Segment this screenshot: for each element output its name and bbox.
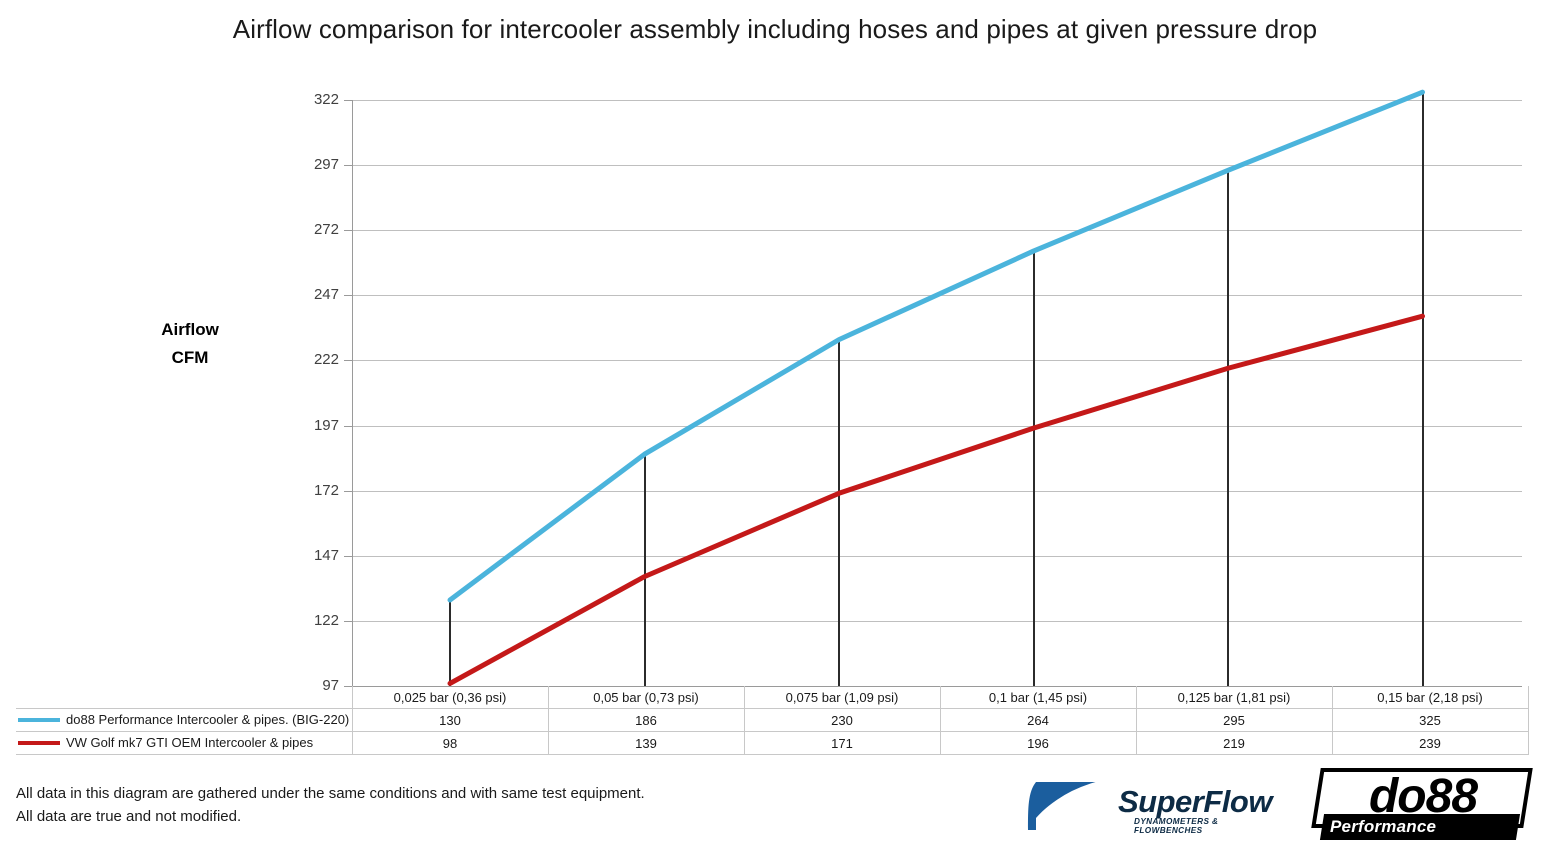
do88-logo: do88 Performance xyxy=(1316,768,1528,844)
y-axis-tick-label: 172 xyxy=(279,482,339,499)
legend-cell-1: VW Golf mk7 GTI OEM Intercooler & pipes xyxy=(16,732,352,755)
data-cell: 239 xyxy=(1332,732,1528,755)
y-axis-tick xyxy=(344,556,352,557)
data-cell: 196 xyxy=(940,732,1136,755)
table-row: do88 Performance Intercooler & pipes. (B… xyxy=(16,709,1528,732)
data-cell: 98 xyxy=(352,732,548,755)
column-header-0: 0,025 bar (0,36 psi) xyxy=(352,686,548,709)
column-header-1: 0,05 bar (0,73 psi) xyxy=(548,686,744,709)
y-axis-tick xyxy=(344,100,352,101)
table-row: VW Golf mk7 GTI OEM Intercooler & pipes9… xyxy=(16,732,1528,755)
data-cell: 219 xyxy=(1136,732,1332,755)
data-cell: 264 xyxy=(940,709,1136,732)
series-line-0 xyxy=(450,92,1423,600)
y-axis-tick-label: 122 xyxy=(279,612,339,629)
data-table: 0,025 bar (0,36 psi)0,05 bar (0,73 psi)0… xyxy=(16,686,1529,755)
data-cell: 295 xyxy=(1136,709,1332,732)
data-cell: 186 xyxy=(548,709,744,732)
y-axis-tick-label: 197 xyxy=(279,417,339,434)
data-cell: 139 xyxy=(548,732,744,755)
superflow-logo: SuperFlow DYNAMOMETERS & FLOWBENCHES xyxy=(1022,778,1272,836)
y-axis-tick-label: 322 xyxy=(279,91,339,108)
legend-label: do88 Performance Intercooler & pipes. (B… xyxy=(66,713,349,727)
table-header-row: 0,025 bar (0,36 psi)0,05 bar (0,73 psi)0… xyxy=(16,686,1528,709)
superflow-swoosh-icon xyxy=(1022,778,1114,834)
data-cell: 325 xyxy=(1332,709,1528,732)
y-axis-tick xyxy=(344,426,352,427)
series-lines xyxy=(352,100,1522,686)
column-header-5: 0,15 bar (2,18 psi) xyxy=(1332,686,1528,709)
y-axis-tick-label: 222 xyxy=(279,351,339,368)
y-axis-tick-label: 272 xyxy=(279,221,339,238)
y-axis-tick xyxy=(344,165,352,166)
do88-tagline: Performance xyxy=(1330,817,1436,837)
superflow-wordmark: SuperFlow xyxy=(1118,784,1272,820)
superflow-tagline: DYNAMOMETERS & FLOWBENCHES xyxy=(1134,817,1272,835)
y-axis-tick xyxy=(344,295,352,296)
legend-label: VW Golf mk7 GTI OEM Intercooler & pipes xyxy=(66,736,313,750)
series-line-1 xyxy=(450,316,1423,683)
column-header-3: 0,1 bar (1,45 psi) xyxy=(940,686,1136,709)
column-header-2: 0,075 bar (1,09 psi) xyxy=(744,686,940,709)
legend-swatch-icon xyxy=(18,718,60,722)
legend-cell-0: do88 Performance Intercooler & pipes. (B… xyxy=(16,709,352,732)
y-axis-tick xyxy=(344,491,352,492)
data-cell: 130 xyxy=(352,709,548,732)
y-axis-tick-label: 297 xyxy=(279,156,339,173)
data-cell: 171 xyxy=(744,732,940,755)
footer-note: All data in this diagram are gathered un… xyxy=(16,782,645,828)
data-cell: 230 xyxy=(744,709,940,732)
plot-area: 97122147172197222247272297322 xyxy=(352,100,1522,686)
y-axis-tick-label: 247 xyxy=(279,286,339,303)
legend-swatch-icon xyxy=(18,741,60,745)
y-axis-tick xyxy=(344,621,352,622)
y-axis-tick xyxy=(344,360,352,361)
y-axis-tick-label: 147 xyxy=(279,547,339,564)
y-axis-title: Airflow CFM xyxy=(80,316,300,372)
chart-title: Airflow comparison for intercooler assem… xyxy=(180,12,1370,46)
y-axis-tick xyxy=(344,230,352,231)
column-header-4: 0,125 bar (1,81 psi) xyxy=(1136,686,1332,709)
table-corner-cell xyxy=(16,686,352,709)
